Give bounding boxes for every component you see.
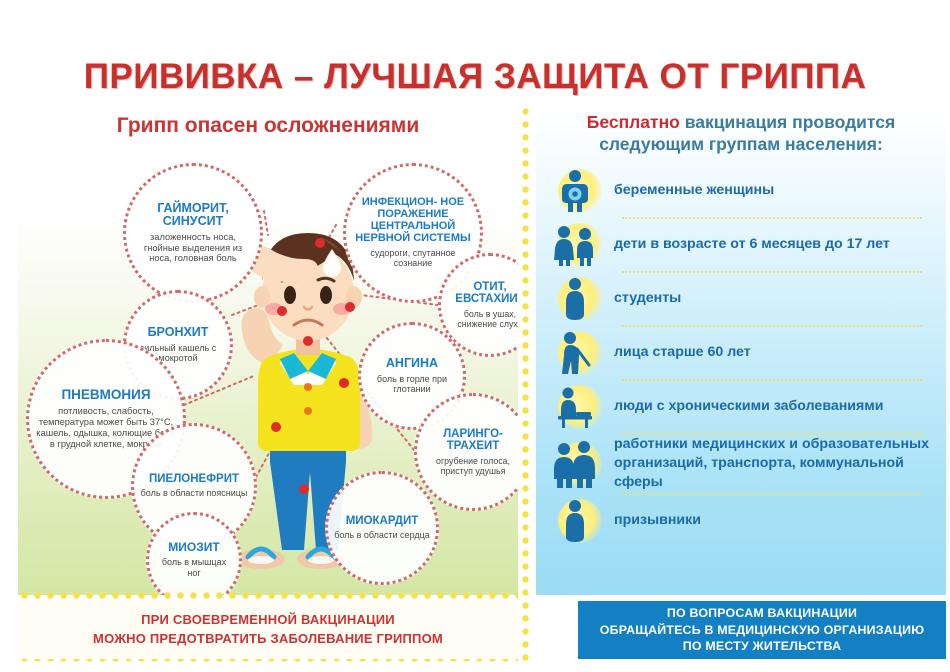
group-label: лица старше 60 лет [614,343,946,362]
two-children-icon [536,219,614,271]
bubble-description: огрубение голоса, приступ удушья [423,456,518,477]
bubble-description: боль в области поясницы [141,488,248,499]
bubble-title: ЛАРИНГО- ТРАХЕИТ [423,428,518,453]
complication-bubble-miokardit: МИОКАРДИТ боль в области сердца [325,471,439,585]
heading-rest: вакцинация проводится [680,112,895,132]
bubble-title: ПИЕЛОНЕФРИТ [149,473,239,485]
conscript-icon [536,495,614,547]
list-item: работники медицинских и образовательных … [536,435,946,493]
prevention-line-1: ПРИ СВОЕВРЕМЕННОЙ ВАКЦИНАЦИИ [141,612,395,627]
group-label: студенты [614,289,946,308]
bubble-title: АНГИНА [386,357,438,371]
prevention-banner-text: ПРИ СВОЕВРЕМЕННОЙ ВАКЦИНАЦИИ МОЖНО ПРЕДО… [93,611,443,649]
bubble-description: боль в мышцах ног [155,557,233,578]
list-item: студенты [536,273,946,325]
group-label: дети в возрасте от 6 месяцев до 17 лет [614,235,946,254]
page-title: ПРИВИВКА – ЛУЧШАЯ ЗАЩИТА ОТ ГРИППА [0,57,950,97]
two-workers-icon [536,438,614,490]
contact-line-3: ПО МЕСТУ ЖИТЕЛЬСТВА [683,639,841,653]
eligible-groups-panel: Бесплатно вакцинация проводится следующи… [536,105,946,595]
yellow-dotted-border-bottom-left [18,590,518,601]
bubble-description: боль в области сердца [334,530,430,541]
complication-bubble-sinusit: ГАЙМОРИТ, СИНУСИТ заложенность носа, гно… [123,163,263,303]
prevention-line-2: МОЖНО ПРЕДОТВРАТИТЬ ЗАБОЛЕВАНИЕ ГРИППОМ [93,631,443,646]
bubble-title: МИОКАРДИТ [346,515,419,527]
contact-banner-text: ПО ВОПРОСАМ ВАКЦИНАЦИИ ОБРАЩАЙТЕСЬ В МЕД… [600,605,924,656]
bubble-title: МИОЗИТ [168,541,219,554]
bubble-title: БРОНХИТ [148,326,209,340]
group-label: люди с хроническими заболеваниями [614,397,946,416]
bubble-title: ПНЕВМОНИЯ [61,388,150,403]
list-item: люди с хроническими заболеваниями [536,381,946,433]
group-label: призывники [614,511,946,530]
contact-banner: ПО ВОПРОСАМ ВАКЦИНАЦИИ ОБРАЩАЙТЕСЬ В МЕД… [578,601,946,659]
bubble-description: боль в ушах, снижение слуха [447,309,518,330]
heading-highlight: Бесплатно [587,112,680,132]
contact-line-2: ОБРАЩАЙТЕСЬ В МЕДИЦИНСКУЮ ОРГАНИЗАЦИЮ [600,623,924,637]
group-label: работники медицинских и образовательных … [614,435,946,493]
yellow-dotted-divider [520,105,531,661]
list-item: призывники [536,495,946,547]
bubble-title: ИНФЕКЦИОН- НОЕ ПОРАЖЕНИЕ ЦЕНТРАЛЬНОЙ НЕР… [352,197,474,245]
elderly-person-with-cane-icon [536,327,614,379]
eligible-groups-heading: Бесплатно вакцинация проводится следующи… [536,111,946,156]
list-item: дети в возрасте от 6 месяцев до 17 лет [536,219,946,271]
person-on-bench-icon [536,381,614,433]
eligible-groups-list: беременные женщины [536,165,946,547]
bubble-title: ГАЙМОРИТ, СИНУСИТ [132,202,254,229]
bubble-description: заложенность носа, гнойные выделения из … [132,232,254,265]
list-item: беременные женщины [536,165,946,217]
group-label: беременные женщины [614,181,946,200]
list-item: лица старше 60 лет [536,327,946,379]
prevention-banner: ПРИ СВОЕВРЕМЕННОЙ ВАКЦИНАЦИИ МОЖНО ПРЕДО… [18,601,518,659]
bubble-description: боль в горле при глотании [367,374,457,395]
pregnant-woman-icon [536,165,614,217]
student-icon [536,273,614,325]
contact-line-1: ПО ВОПРОСАМ ВАКЦИНАЦИИ [667,606,857,620]
heading-line2: следующим группам населения: [599,134,883,154]
complications-panel: Грипп опасен осложнениями [18,105,518,595]
influenza-vaccination-poster: ПРИВИВКА – ЛУЧШАЯ ЗАЩИТА ОТ ГРИППА Грипп… [0,0,950,672]
bubble-title: ОТИТ, ЕВСТАХИИТ [447,281,518,306]
